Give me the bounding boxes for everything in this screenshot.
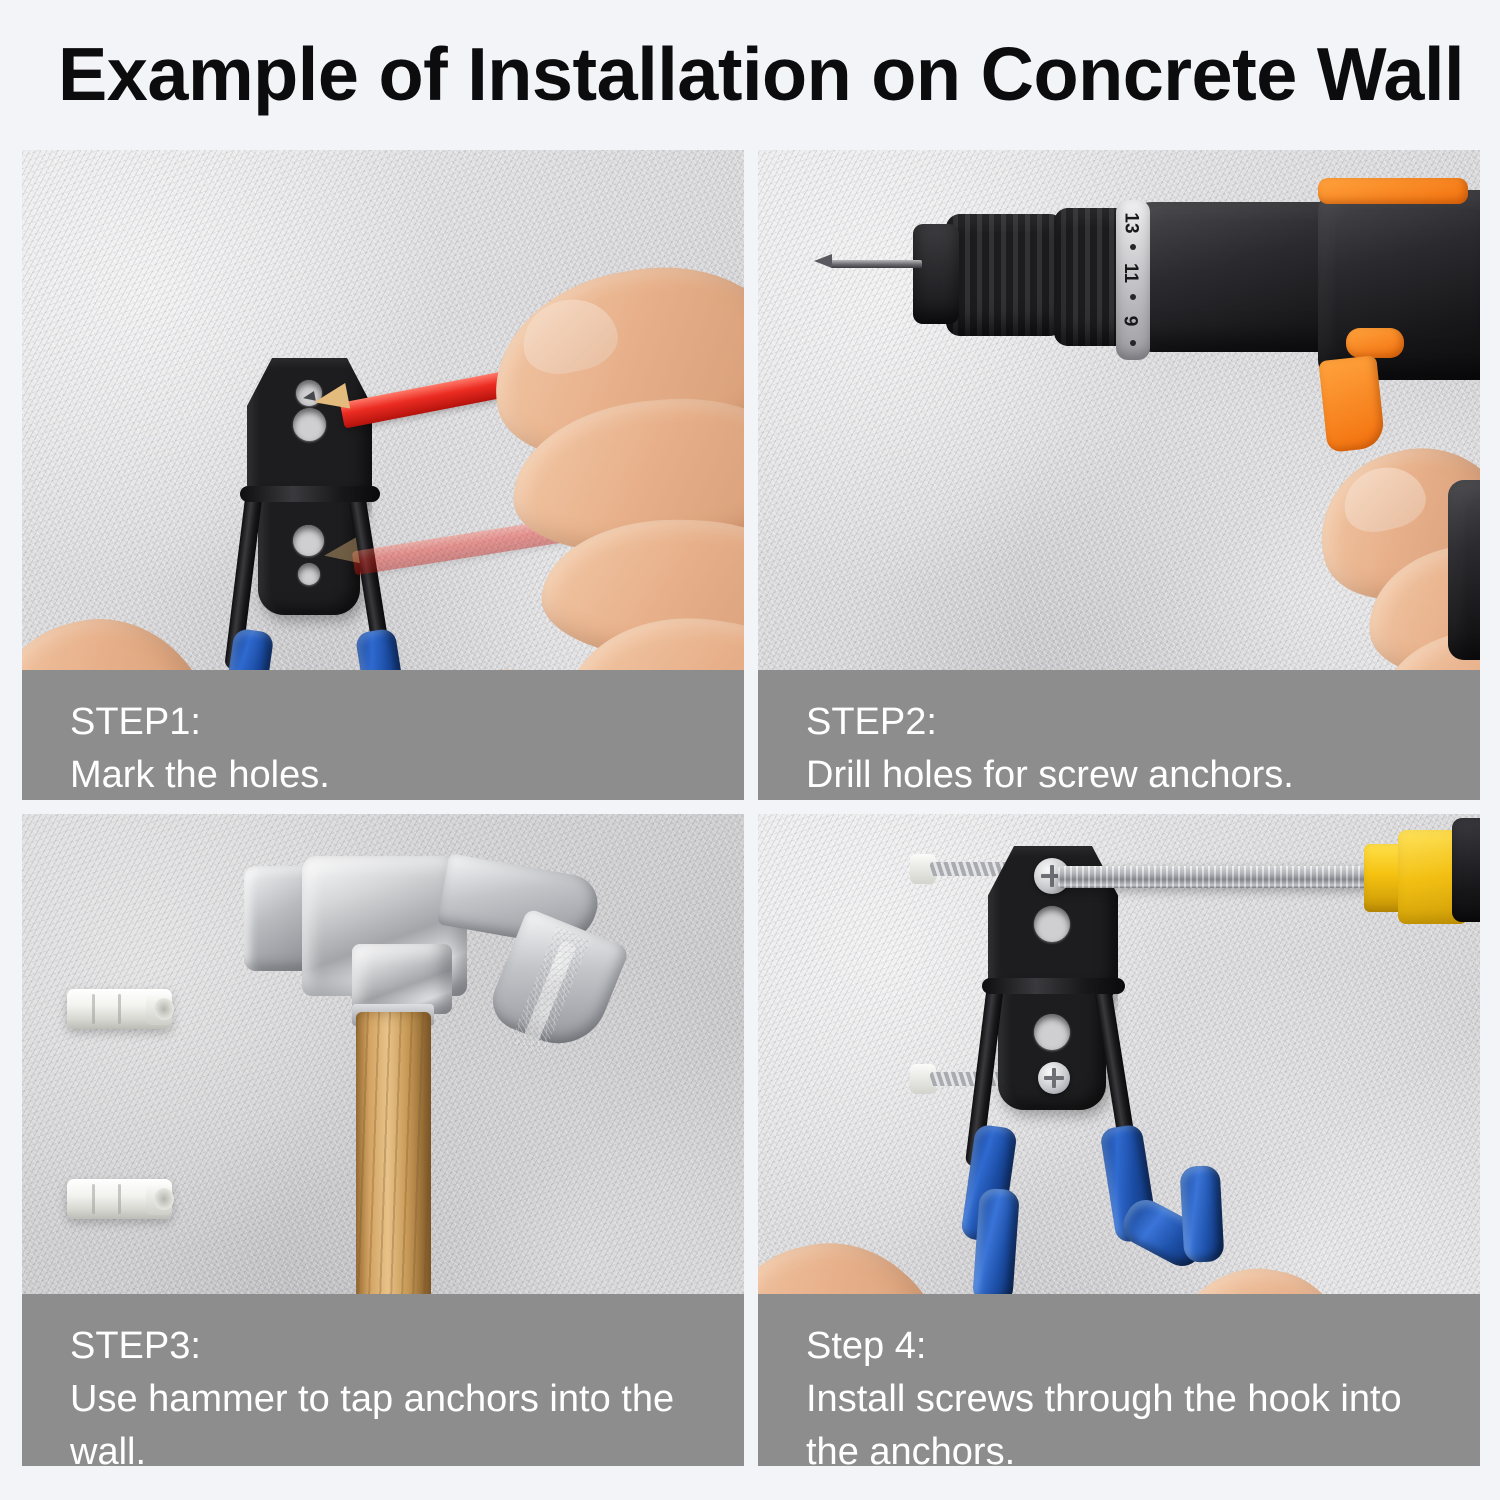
drill-battery-base bbox=[1448, 480, 1480, 660]
anchor-opening bbox=[154, 998, 174, 1020]
drill-torque-collar: 13 11 9 bbox=[1116, 200, 1150, 360]
torque-number-9: 9 bbox=[1118, 316, 1140, 327]
step-1-body: Mark the holes. bbox=[70, 749, 744, 800]
torque-dot bbox=[1130, 340, 1136, 346]
torque-number-13: 13 bbox=[1120, 212, 1142, 233]
screw-head-bottom bbox=[1038, 1062, 1070, 1094]
mounting-hole-mid bbox=[1034, 906, 1070, 942]
anchor-rib bbox=[92, 1184, 95, 1214]
pencil-ghost-cone bbox=[322, 538, 360, 569]
hook-arm-bridge bbox=[982, 978, 1125, 994]
drill-chuck bbox=[946, 214, 1064, 336]
steps-grid: STEP1: Mark the holes. 13 11 9 bbox=[22, 150, 1480, 1466]
step-2-lead: STEP2: bbox=[806, 696, 1480, 749]
step-2-caption: STEP2: Drill holes for screw anchors. bbox=[758, 670, 1480, 800]
screw-slot-h bbox=[1044, 1076, 1064, 1080]
step-card-1: STEP1: Mark the holes. bbox=[22, 150, 744, 800]
page-title: Example of Installation on Concrete Wall bbox=[58, 28, 1427, 120]
screwdriver-shaft bbox=[1058, 866, 1378, 888]
hook-tip-right-end bbox=[1180, 1165, 1225, 1263]
step-3-lead: STEP3: bbox=[70, 1320, 744, 1373]
drill-direction-button bbox=[1346, 328, 1404, 358]
drill-bit-tip bbox=[814, 254, 832, 268]
torque-dot bbox=[1130, 244, 1136, 250]
step-4-caption: Step 4: Install screws through the hook … bbox=[758, 1294, 1480, 1466]
mounting-hole-lower bbox=[1034, 1014, 1070, 1050]
step-4-lead: Step 4: bbox=[806, 1320, 1480, 1373]
drill-top-accent bbox=[1318, 178, 1468, 204]
step-1-lead: STEP1: bbox=[70, 696, 744, 749]
step-2-body: Drill holes for screw anchors. bbox=[806, 749, 1480, 800]
drill-trigger bbox=[1318, 355, 1385, 453]
screwdriver-handle-grip bbox=[1452, 818, 1480, 922]
step-3-caption: STEP3: Use hammer to tap anchors into th… bbox=[22, 1294, 744, 1466]
anchor-rib bbox=[92, 994, 95, 1024]
step-card-3: STEP3: Use hammer to tap anchors into th… bbox=[22, 814, 744, 1466]
step-1-caption: STEP1: Mark the holes. bbox=[22, 670, 744, 800]
step-4-body: Install screws through the hook into the… bbox=[806, 1373, 1480, 1466]
mounting-hole-lower bbox=[293, 525, 324, 556]
step-card-4: Step 4: Install screws through the hook … bbox=[758, 814, 1480, 1466]
hook-tip-left-end bbox=[972, 1188, 1020, 1306]
torque-number-11: 11 bbox=[1119, 263, 1141, 283]
drill-chuck-nose bbox=[913, 224, 959, 324]
anchor-opening bbox=[154, 1188, 174, 1210]
anchor-rib bbox=[118, 1184, 121, 1214]
mounting-hole-bottom bbox=[298, 563, 320, 585]
step-3-body: Use hammer to tap anchors into the wall. bbox=[70, 1373, 744, 1466]
hook-arm-bridge bbox=[240, 486, 380, 502]
torque-dot bbox=[1130, 294, 1136, 300]
anchor-rib bbox=[118, 994, 121, 1024]
drill-bit bbox=[830, 260, 922, 268]
step-card-2: 13 11 9 STEP2: bbox=[758, 150, 1480, 800]
